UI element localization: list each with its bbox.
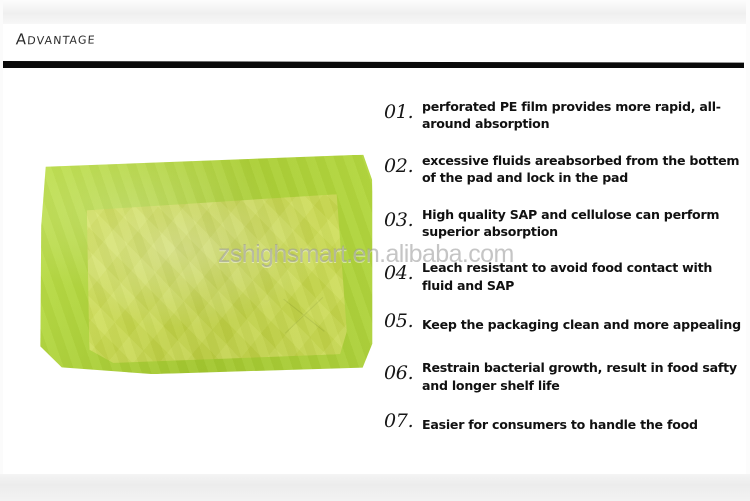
advantage-text: perforated PE film provides more rapid, … bbox=[422, 96, 744, 133]
advantage-text: Leach resistant to avoid food contact wi… bbox=[422, 257, 744, 294]
advantage-number: 01. bbox=[384, 96, 422, 123]
advantage-text: High quality SAP and cellulose can perfo… bbox=[422, 204, 744, 241]
pad-quilt-stitching-icon bbox=[277, 291, 331, 339]
page-frame-top bbox=[0, 0, 750, 24]
advantage-text: Restrain bacterial growth, result in foo… bbox=[422, 357, 744, 394]
product-image bbox=[22, 140, 382, 390]
section-header: Advantage bbox=[0, 24, 750, 69]
list-item: 04. Leach resistant to avoid food contac… bbox=[384, 257, 744, 294]
advantage-number: 07. bbox=[384, 411, 422, 432]
list-item: 05. Keep the packaging clean and more ap… bbox=[384, 311, 744, 333]
list-item: 06. Restrain bacterial growth, result in… bbox=[384, 357, 744, 394]
pad-outer-layer bbox=[34, 154, 376, 376]
list-item: 01. perforated PE film provides more rap… bbox=[384, 96, 744, 133]
advantage-number: 03. bbox=[384, 204, 422, 231]
advantage-number: 04. bbox=[384, 257, 422, 284]
page-title: Advantage bbox=[15, 30, 96, 49]
page-frame-left bbox=[0, 0, 3, 501]
advantages-list: 01. perforated PE film provides more rap… bbox=[384, 96, 744, 458]
advantage-slide: Advantage 01. perforated PE film provide… bbox=[0, 0, 750, 501]
list-item: 03. High quality SAP and cellulose can p… bbox=[384, 204, 744, 241]
page-frame-right bbox=[746, 0, 750, 501]
advantage-number: 02. bbox=[384, 150, 422, 177]
list-item: 07. Easier for consumers to handle the f… bbox=[384, 411, 744, 433]
advantage-number: 05. bbox=[384, 311, 422, 332]
advantage-text: excessive fluids areabsorbed from the bo… bbox=[422, 150, 744, 187]
header-divider-rule bbox=[3, 61, 744, 68]
advantage-number: 06. bbox=[384, 357, 422, 384]
pad-inner-layer bbox=[83, 194, 348, 366]
advantage-text: Easier for consumers to handle the food bbox=[422, 411, 744, 433]
page-frame-bottom bbox=[0, 474, 750, 501]
list-item: 02. excessive fluids areabsorbed from th… bbox=[384, 150, 744, 187]
advantage-text: Keep the packaging clean and more appeal… bbox=[422, 311, 744, 333]
